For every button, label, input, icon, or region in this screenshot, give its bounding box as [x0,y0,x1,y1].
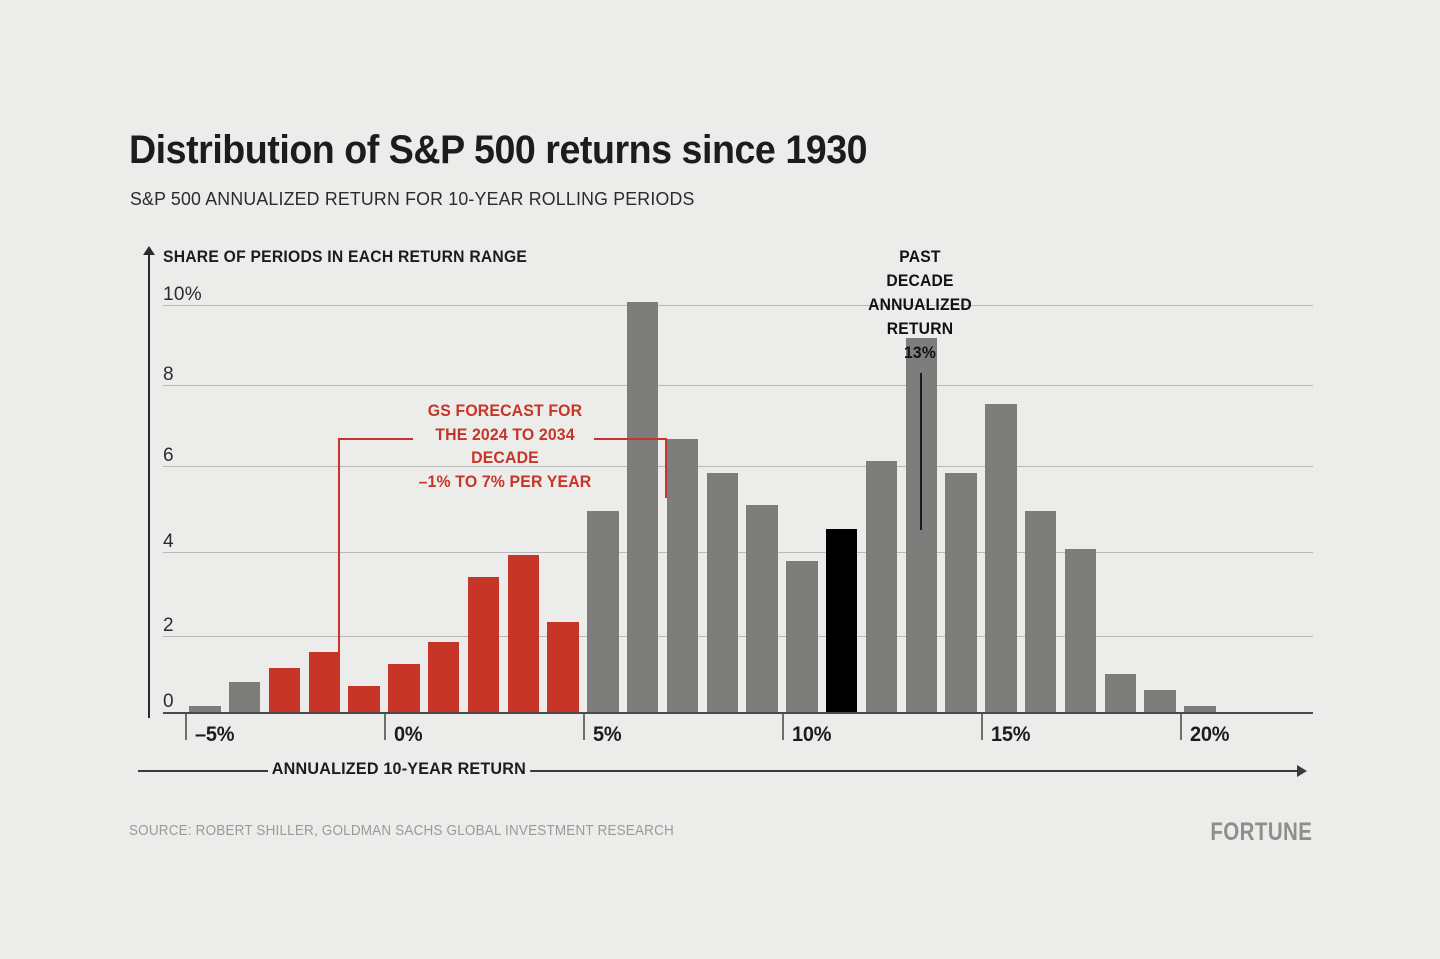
x-tick-mark [384,714,386,740]
bar [667,439,699,712]
x-tick-label: 5% [593,723,621,747]
bar [388,664,420,712]
gs-forecast-line: DECADE [375,447,634,471]
bar [229,682,261,712]
past-decade-line: 13% [849,341,992,365]
gs-forecast-annotation: GS FORECAST FORTHE 2024 TO 2034DECADE–1%… [375,400,634,494]
bar [627,302,659,712]
bar [428,642,460,712]
past-decade-pointer-line [920,373,922,530]
x-tick-mark [185,714,187,740]
bar [508,555,540,712]
bar [866,461,898,712]
bar [547,622,579,712]
x-tick-label: 20% [1190,723,1229,747]
x-axis-title: ANNUALIZED 10-YEAR RETURN [268,759,530,779]
x-tick-label: –5% [195,723,234,747]
x-tick-label: 10% [792,723,831,747]
gs-bracket-right-arm [665,438,667,498]
bar [587,511,619,712]
x-tick-label: 15% [991,723,1030,747]
past-decade-line: DECADE [849,269,992,293]
fortune-logo: FORTUNE [1210,818,1312,847]
bar [826,529,858,712]
bar [1065,549,1097,712]
bar [309,652,341,712]
x-axis-baseline [163,712,1313,714]
bar [945,473,977,712]
x-tick-label: 0% [394,723,422,747]
plot-area: SHARE OF PERIODS IN EACH RETURN RANGE 10… [0,0,1440,959]
bar [746,505,778,712]
past-decade-annotation: PASTDECADEANNUALIZEDRETURN13% [849,245,992,365]
bar [1105,674,1137,712]
bar [468,577,500,712]
x-tick-mark [981,714,983,740]
bar [707,473,739,712]
bar [1144,690,1176,712]
bar [1025,511,1057,712]
x-tick-mark [583,714,585,740]
bar [786,561,818,712]
past-decade-line: ANNUALIZED [849,293,992,317]
bars-layer [0,0,1440,713]
source-note: SOURCE: ROBERT SHILLER, GOLDMAN SACHS GL… [129,823,674,839]
past-decade-line: PAST [849,245,992,269]
gs-bracket-left-arm [338,438,340,655]
gs-forecast-line: –1% TO 7% PER YEAR [375,471,634,495]
bar [985,404,1017,712]
chart-canvas: Distribution of S&P 500 returns since 19… [0,0,1440,959]
bar [269,668,301,712]
bar [348,686,380,712]
past-decade-line: RETURN [849,317,992,341]
x-axis-arrow-icon [1297,765,1307,777]
x-tick-mark [1180,714,1182,740]
gs-forecast-line: GS FORECAST FOR [375,400,634,424]
gs-forecast-line: THE 2024 TO 2034 [375,424,634,448]
x-tick-mark [782,714,784,740]
